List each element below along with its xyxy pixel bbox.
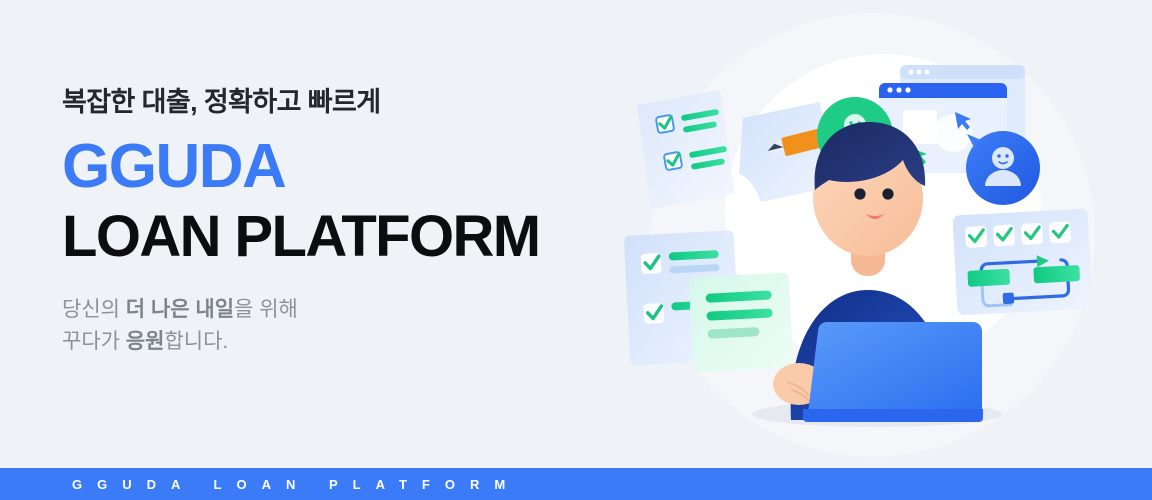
workflow-card-right [952, 209, 1092, 316]
eye-right [882, 188, 893, 199]
headline-eyebrow: 복잡한 대출, 정확하고 빠르게 [62, 86, 622, 120]
laptop-lid [808, 322, 982, 413]
tagline-1-prefix: 당신의 [62, 298, 126, 321]
mint-card [689, 272, 794, 372]
laptop-base [803, 409, 983, 422]
tagline-1-bold: 더 나은 내일 [126, 298, 234, 321]
tagline-2-suffix: 합니다. [164, 330, 228, 353]
tagline-line-2: 꾸다가 응원합니다. [62, 326, 622, 359]
head [813, 122, 925, 256]
bottom-ticker-bar: GGUDA LOAN PLATFORM [0, 468, 1152, 500]
hero-copy: 복잡한 대출, 정확하고 빠르게 GGUDA LOAN PLATFORM 당신의… [62, 86, 622, 359]
brand-title: GGUDA [62, 134, 622, 199]
avatar-bubble-blue [966, 131, 1040, 205]
checklist-card-top-left [637, 90, 735, 209]
hero-banner: 복잡한 대출, 정확하고 빠르게 GGUDA LOAN PLATFORM 당신의… [0, 0, 1152, 500]
avatar-head-blue [992, 147, 1014, 169]
tagline-1-suffix: 을 위해 [234, 298, 298, 321]
hero-illustration [615, 0, 1115, 480]
eye-left [854, 188, 865, 199]
tagline: 당신의 더 나은 내일을 위해 꾸다가 응원합니다. [62, 294, 622, 359]
product-title: LOAN PLATFORM [62, 207, 622, 268]
ticker-text: GGUDA LOAN PLATFORM [0, 477, 520, 492]
tagline-line-1: 당신의 더 나은 내일을 위해 [62, 294, 622, 327]
tagline-2-prefix: 꾸다가 [62, 330, 126, 353]
tagline-2-bold: 응원 [126, 330, 165, 353]
